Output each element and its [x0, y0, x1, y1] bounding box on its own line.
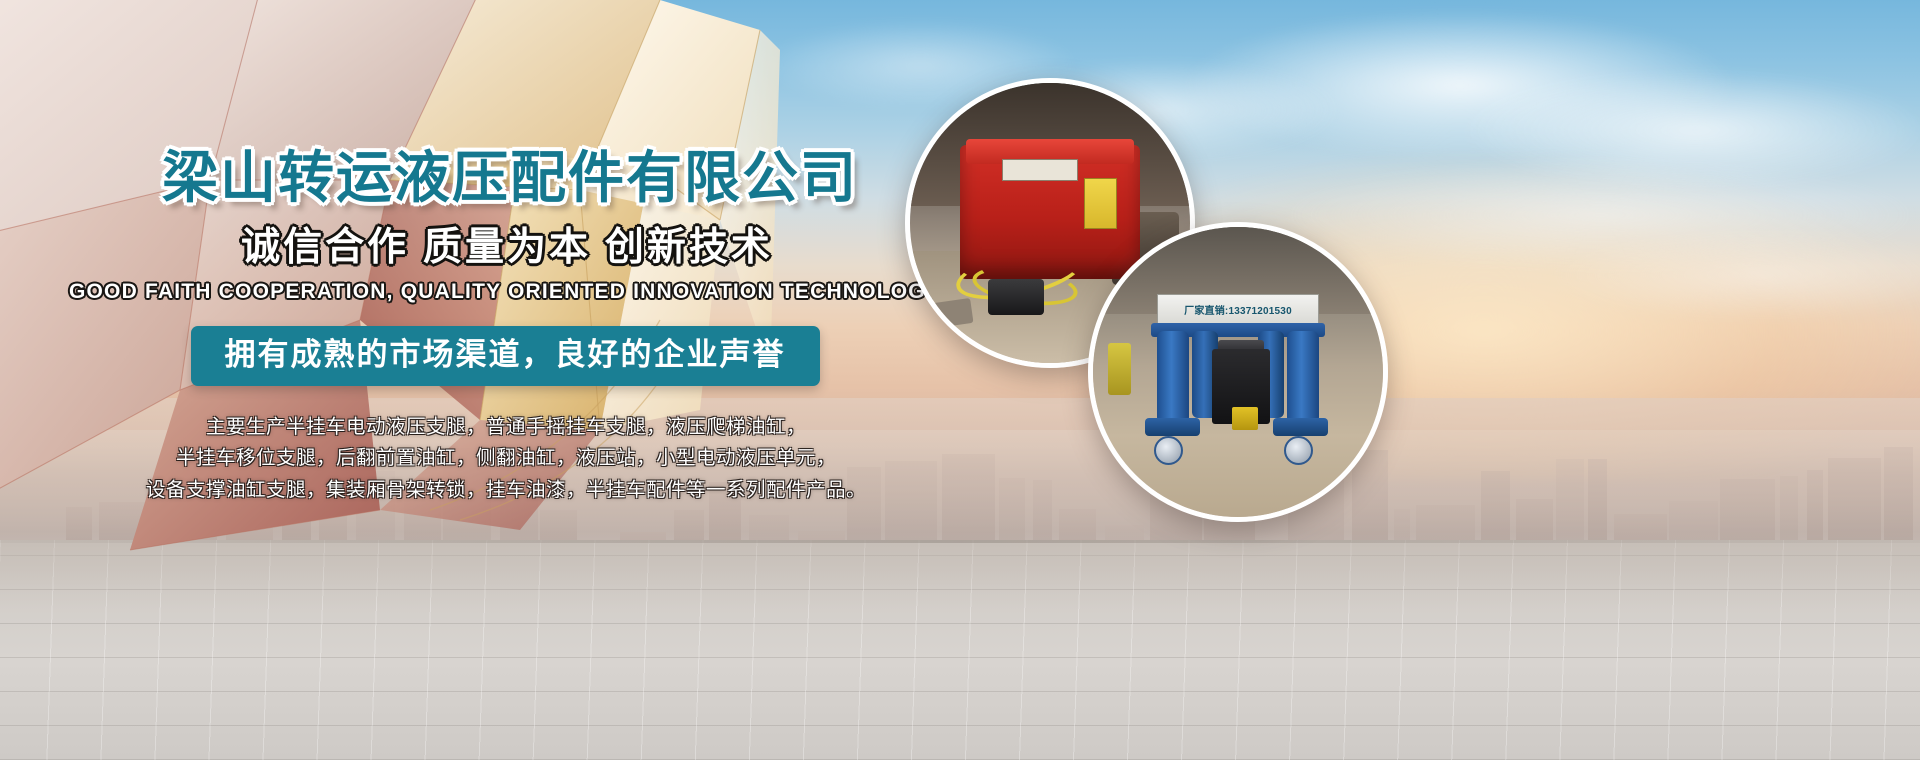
blue-photo-scene: 厂家直销:13371201530	[1093, 227, 1383, 517]
base-pad	[1145, 418, 1200, 435]
hero-text-block: 梁山转运液压配件有限公司 诚信合作 质量为本 创新技术 GOOD FAITH C…	[0, 150, 1000, 570]
caster-wheel	[1154, 436, 1183, 465]
electric-motor	[988, 279, 1044, 315]
product-photo-blue-hydraulic: 厂家直销:13371201530	[1088, 222, 1388, 522]
red-machine-plate	[1002, 159, 1078, 181]
product-description: 主要生产半挂车电动液压支腿，普通手摇挂车支腿，液压爬梯油缸， 半挂车移位支腿，后…	[0, 412, 1000, 507]
banner-stage: 梁山转运液压配件有限公司 诚信合作 质量为本 创新技术 GOOD FAITH C…	[0, 0, 1920, 760]
warning-label	[1084, 178, 1118, 228]
slogan-english: GOOD FAITH COOPERATION, QUALITY ORIENTED…	[0, 281, 1000, 302]
yellow-equipment	[1108, 343, 1131, 395]
description-line-1: 主要生产半挂车电动液压支腿，普通手摇挂车支腿，液压爬梯油缸，	[12, 412, 1000, 444]
hydraulic-leg	[1287, 331, 1319, 424]
control-lever	[1232, 407, 1258, 430]
hydraulic-leg	[1157, 331, 1189, 424]
caster-wheel	[1284, 436, 1313, 465]
dealer-sign: 厂家直销:13371201530	[1157, 294, 1319, 326]
ribbon-container: 拥有成熟的市场渠道，良好的企业声誉	[0, 326, 1000, 386]
base-pad	[1273, 418, 1328, 435]
company-title: 梁山转运液压配件有限公司	[0, 150, 1000, 206]
market-reputation-ribbon: 拥有成熟的市场渠道，良好的企业声誉	[191, 326, 820, 386]
dealer-sign-text: 厂家直销:13371201530	[1184, 302, 1292, 317]
description-line-3: 设备支撑油缸支腿，集装厢骨架转锁，挂车油漆，半挂车配件等一系列配件产品。	[12, 475, 1000, 507]
plaza-ground	[0, 540, 1920, 760]
slogan-chinese: 诚信合作 质量为本 创新技术	[0, 228, 1000, 267]
description-line-2: 半挂车移位支腿，后翻前置油缸，侧翻油缸，液压站，小型电动液压单元，	[12, 443, 1000, 475]
